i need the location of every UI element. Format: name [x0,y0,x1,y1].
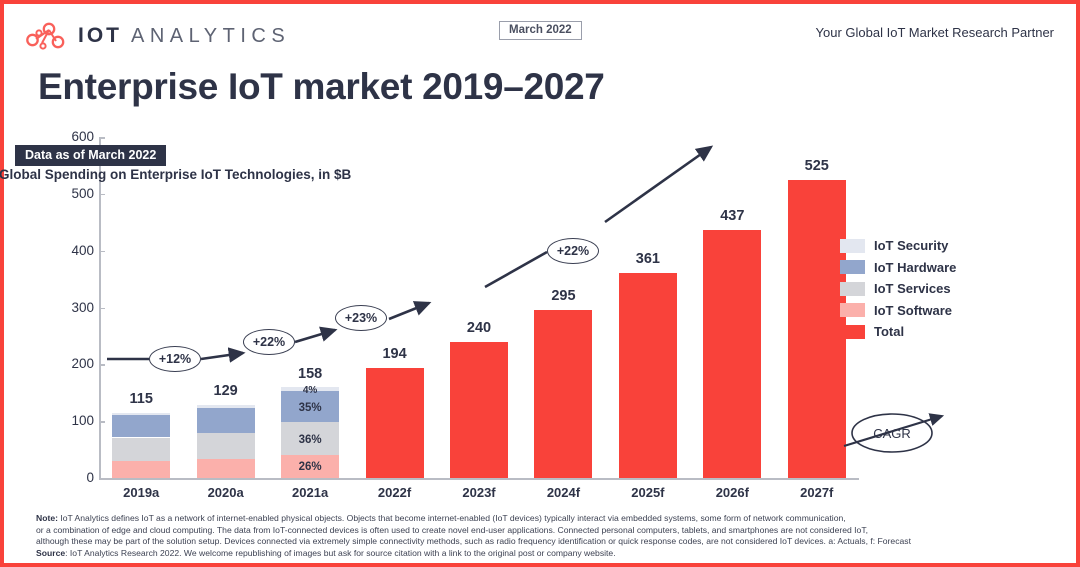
footnote-line-2: or a combination of edge and cloud compu… [36,525,1056,537]
x-axis-label: 2026f [697,485,767,500]
y-axis-tick: 500 [46,186,94,201]
x-axis-label: 2024f [528,485,598,500]
footnote-line-1: Note: IoT Analytics defines IoT as a net… [36,513,1056,525]
network-nodes-icon [22,20,68,52]
footnote-note-1: IoT Analytics defines IoT as a network o… [58,513,846,523]
legend-item[interactable]: IoT Security [840,235,956,257]
footnote-source-label: Source [36,548,65,558]
x-axis-label: 2020a [191,485,261,500]
footnote-line-3: although these may be part of the soluti… [36,536,1056,548]
header: IOT ANALYTICS March 2022 Your Global IoT… [4,4,1076,56]
cagr-bubble: +23% [335,305,387,331]
footnote-source-text: : IoT Analytics Research 2022. We welcom… [65,548,615,558]
footnote-note-label: Note: [36,513,58,523]
y-axis-tick: 200 [46,356,94,371]
cagr-bubble: +22% [243,329,295,355]
legend-swatch [840,282,865,296]
x-axis-label: 2023f [444,485,514,500]
legend-swatch [840,325,865,339]
legend-item[interactable]: IoT Hardware [840,257,956,279]
date-badge: March 2022 [499,21,582,40]
x-axis-label: 2022f [360,485,430,500]
x-axis-label: 2027f [782,485,852,500]
legend-swatch [840,260,865,274]
legend-label: Total [874,324,904,339]
x-axis-label: 2019a [106,485,176,500]
y-axis-tick: 300 [46,300,94,315]
chart-area: 0100200300400500600 11512926%36%35%4%158… [4,129,1076,504]
footnote-line-4: Source: IoT Analytics Research 2022. We … [36,548,1056,560]
header-tagline: Your Global IoT Market Research Partner [816,25,1054,40]
logo-iot-text: IOT [78,24,122,48]
page-title: Enterprise IoT market 2019–2027 [38,66,605,108]
legend-label: IoT Services [874,281,951,296]
legend-item[interactable]: IoT Services [840,278,956,300]
footnote: Note: IoT Analytics defines IoT as a net… [36,513,1056,559]
legend-label: IoT Security [874,238,948,253]
cagr-bubbles-layer: +12%+22%+23%+22% [99,137,859,478]
cagr-bubble: +12% [149,346,201,372]
y-axis-tick: 0 [46,470,94,485]
legend-swatch [840,303,865,317]
legend-item[interactable]: IoT Software [840,300,956,322]
cagr-bubble: +22% [547,238,599,264]
poster-frame: IOT ANALYTICS March 2022 Your Global IoT… [0,0,1080,567]
legend-item[interactable]: Total [840,321,956,343]
brand-logo: IOT ANALYTICS [22,20,290,52]
legend-label: IoT Hardware [874,260,956,275]
y-axis-tick: 400 [46,243,94,258]
legend: IoT SecurityIoT HardwareIoT ServicesIoT … [840,235,956,343]
legend-swatch [840,239,865,253]
data-as-of-badge: Data as of March 2022 [15,145,166,166]
cagr-legend-label: CAGR [842,404,942,464]
logo-analytics-text: ANALYTICS [131,25,290,48]
y-axis-tick: 100 [46,413,94,428]
y-axis-tick: 600 [46,129,94,144]
x-axis-label: 2025f [613,485,683,500]
x-axis-label: 2021a [275,485,345,500]
cagr-legend: CAGR [842,404,962,464]
legend-label: IoT Software [874,303,952,318]
chart-subtitle: Global Spending on Enterprise IoT Techno… [0,167,351,182]
